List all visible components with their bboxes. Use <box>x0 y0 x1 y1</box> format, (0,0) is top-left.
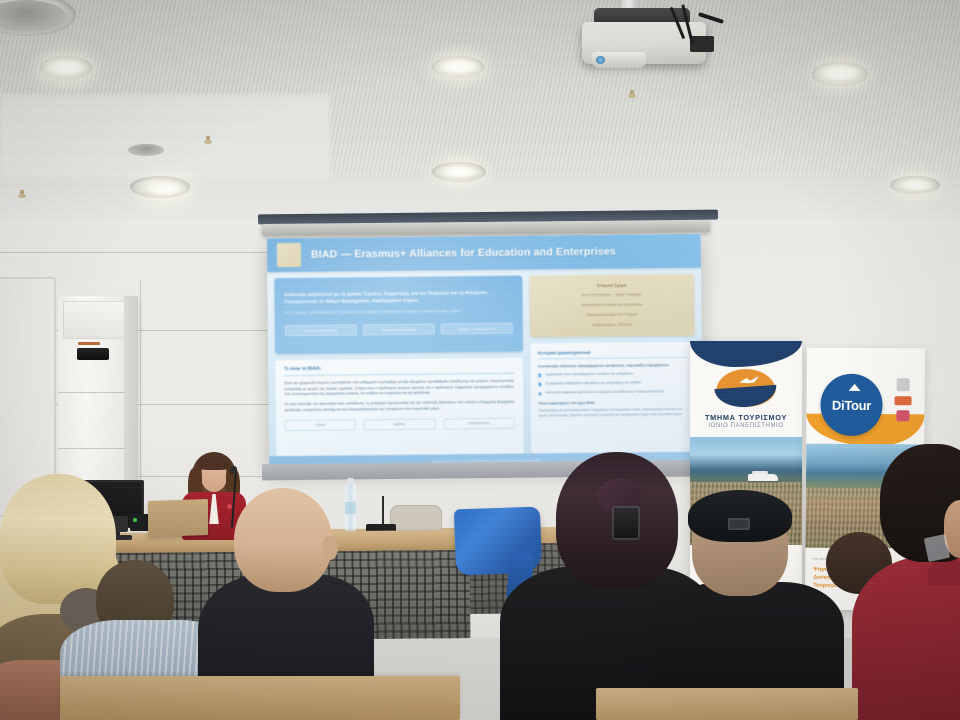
presentation-slide: BIAD — Erasmus+ Alliances for Education … <box>267 234 703 471</box>
projector-lens <box>592 52 646 68</box>
ceiling-light-recess <box>128 144 164 156</box>
ac-brand-mark <box>78 342 100 345</box>
banner-subtitle: ΙΟΝΙΟ ΠΑΝΕΠΙΣΤΗΜΙΟ <box>690 423 802 429</box>
callout-line: Ευρωπαϊκοί εταίροι από 5 χώρες <box>538 312 685 319</box>
lecture-hall-photo: BIAD — Erasmus+ Alliances for Education … <box>0 0 960 720</box>
feature-bullet: Συνεργασία ακαδημαϊκών ιδρυμάτων με επιχ… <box>538 380 687 387</box>
hero-title: Ανάπτυξη Δεξιοτήτων με τη Δράση Τεχνικής… <box>284 289 512 306</box>
slide-right-column: Εταιρικό Σχήμα Ιόνιο Πανεπιστήμιο – Τμήμ… <box>529 274 696 454</box>
sprinkler-head <box>204 136 212 146</box>
chair <box>390 505 442 531</box>
slide-features-card: Κεντρικά χαρακτηριστικά Η ανάπτυξη πιλοτ… <box>530 342 696 454</box>
building-icon <box>896 410 909 421</box>
banner-top-wave <box>690 341 802 367</box>
bullet-square-icon <box>538 374 541 377</box>
audience-member-head <box>234 488 332 592</box>
hair-clip <box>612 506 640 540</box>
info-button[interactable]: Δράσεις <box>364 418 435 430</box>
hero-button[interactable]: Industry – Academia Link <box>441 323 513 335</box>
slide-left-column: Ανάπτυξη Δεξιοτήτων με τη Δράση Τεχνικής… <box>274 276 524 457</box>
banner-title: ΤΜΗΜΑ ΤΟΥΡΙΣΜΟΥ <box>690 413 802 422</box>
feature-bullet-text: Ανάπτυξη ψηφιακών εργαλείων και ανοιχτών… <box>546 389 664 395</box>
slide-body: Ανάπτυξη Δεξιοτήτων με τη Δράση Τεχνικής… <box>267 268 703 457</box>
ceiling-light-glow <box>440 166 480 179</box>
info-button[interactable]: Αποτελέσματα <box>443 417 514 429</box>
features-heading: Κεντρικά χαρακτηριστικά <box>538 349 687 360</box>
boat-icon <box>895 396 912 405</box>
cap-strap-clasp <box>728 518 750 530</box>
feature-bullet-text: Συνεργασία ακαδημαϊκών ιδρυμάτων με επιχ… <box>546 381 642 387</box>
banner-logo <box>713 367 779 411</box>
bullet-square-icon <box>538 392 541 395</box>
participants-text: Πανεπιστήμια και ερευνητικά κέντρα, επιχ… <box>538 406 687 418</box>
ac-vent <box>77 348 109 360</box>
info-paragraph: Είναι μια χρηματοδοτούμενη πρωτοβουλία π… <box>284 379 514 399</box>
slide-hero-card: Ανάπτυξη Δεξιοτήτων με τη Δράση Τεχνικής… <box>274 276 523 355</box>
banner-icon-set <box>886 378 916 434</box>
presenter-microphone <box>230 466 237 474</box>
cruise-ship <box>748 474 778 481</box>
sprinkler-head <box>628 90 636 100</box>
presenter-lapel-pin <box>227 504 232 509</box>
ceiling-light-glow <box>44 60 88 77</box>
roof-icon <box>849 384 861 391</box>
audience-desk <box>596 688 858 720</box>
water-bottle-cap <box>347 478 354 484</box>
circle-icon <box>897 378 910 391</box>
slide-header: BIAD — Erasmus+ Alliances for Education … <box>267 234 701 273</box>
ceiling-light-glow <box>438 60 480 75</box>
water-bottle-label <box>345 502 356 514</box>
presenter-fringe <box>198 458 230 470</box>
info-heading: Τι είναι το BIAD; <box>284 365 514 376</box>
feature-bullet-text: Σχεδιασμός νέων προγραμμάτων σπουδών και… <box>545 371 633 377</box>
sprinkler-head <box>18 190 26 200</box>
audience-member-ear <box>322 536 338 560</box>
slide-logo <box>277 243 301 267</box>
info-button-row: Στόχοι Δράσεις Αποτελέσματα <box>285 417 515 430</box>
info-button[interactable]: Στόχοι <box>285 419 356 431</box>
info-paragraph: Το έργο προωθεί την καινοτομία στην εκπα… <box>285 400 515 414</box>
ceiling <box>0 0 960 245</box>
projector-cables <box>676 4 728 50</box>
callout-title: Εταιρικό Σχήμα <box>538 282 685 290</box>
ceiling-light-glow <box>144 182 186 197</box>
feature-bullet: Ανάπτυξη ψηφιακών εργαλείων και ανοιχτών… <box>538 389 687 396</box>
ac-display-panel <box>63 301 125 339</box>
hero-button[interactable]: Alliances for Education <box>363 324 435 336</box>
slide-title: BIAD — Erasmus+ Alliances for Education … <box>311 246 616 261</box>
audience-member-collar <box>928 560 960 586</box>
slide-callout-card: Εταιρικό Σχήμα Ιόνιο Πανεπιστήμιο – Τμήμ… <box>529 274 695 338</box>
eyeglasses <box>924 534 951 562</box>
audience-desk <box>60 676 460 720</box>
hero-subtitle: EU Erasmus+ Skill-Building for Tourism a… <box>285 308 513 317</box>
wave-icon <box>714 385 777 409</box>
features-subheading: Η ανάπτυξη πιλοτικών προγραμμάτων κατάρτ… <box>538 363 687 369</box>
ceiling-light-glow <box>898 180 934 192</box>
hero-button-row: Erasmus+ Programme Alliances for Educati… <box>285 323 513 336</box>
callout-line: Ιόνιο Πανεπιστήμιο – Τμήμα Τουρισμού <box>538 292 685 299</box>
feature-bullet: Σχεδιασμός νέων προγραμμάτων σπουδών και… <box>538 371 687 378</box>
hero-button[interactable]: Erasmus+ Programme <box>285 325 357 337</box>
ditour-logo-text: DiTour <box>832 397 871 412</box>
projection-screen: BIAD — Erasmus+ Alliances for Education … <box>267 234 703 471</box>
slide-info-card: Τι είναι το BIAD; Είναι μια χρηματοδοτού… <box>275 358 524 457</box>
wall-seam <box>0 252 300 253</box>
participants-heading: Ποιοι συμμετέχουν στο έργο BIAD <box>538 399 687 405</box>
callout-line: Συνεργαζόμενοι φορείς και επιχειρήσεις <box>538 302 685 309</box>
baseball-cap <box>688 490 792 542</box>
ceiling-light-glow <box>820 66 862 82</box>
callout-line: Διάρκεια έργου: 36 μήνες <box>538 322 685 329</box>
presenter-laptop <box>148 499 208 537</box>
bullet-square-icon <box>538 383 541 386</box>
